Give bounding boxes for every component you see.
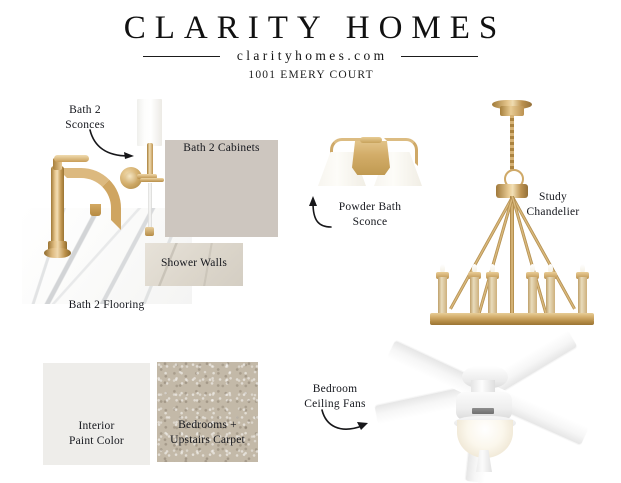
arrow-to-ceiling-fans — [318, 408, 376, 440]
annotation-study-chandelier-line1: Study — [506, 190, 600, 205]
vanity-center-body — [352, 141, 390, 175]
chandelier-candle — [528, 277, 537, 313]
board-header: CLARITY HOMES clarityhomes.com 1001 EMER… — [0, 0, 621, 92]
faucet-base — [44, 248, 71, 258]
annotation-bedroom-ceiling-fans-line1: Bedroom — [289, 382, 381, 397]
website-row: clarityhomes.com — [0, 47, 621, 65]
chandelier-candle — [438, 277, 447, 313]
design-board: CLARITY HOMES clarityhomes.com 1001 EMER… — [0, 0, 621, 480]
ceiling-fan-image — [372, 322, 604, 470]
faucet-spout — [57, 168, 121, 230]
property-address: 1001 EMERY COURT — [0, 69, 621, 81]
arrow-to-bath-2-sconces — [84, 128, 144, 168]
vanity-sconce-image — [316, 128, 426, 194]
chandelier-candle — [546, 277, 555, 313]
swatch-label-carpet-line1: Bedrooms + — [152, 418, 263, 433]
chandelier-spoke — [449, 196, 514, 309]
swatch-label-interior-paint-line1: Interior — [43, 419, 150, 434]
fan-switch-plate — [472, 408, 494, 414]
swatch-label-bath-2-flooring: Bath 2 Flooring — [24, 298, 189, 313]
divider-right — [401, 56, 478, 57]
swatch-label-shower-walls: Shower Walls — [145, 256, 243, 271]
arrow-to-powder-bath-sconce — [307, 193, 339, 231]
swatch-label-carpet-line2: Upstairs Carpet — [152, 433, 263, 448]
annotation-study-chandelier-line2: Chandelier — [506, 205, 600, 220]
sconce-crossbar — [140, 178, 164, 182]
annotation-bath-2-sconces-line1: Bath 2 — [42, 103, 128, 118]
annotation-study-chandelier: Study Chandelier — [506, 190, 600, 219]
chandelier-chain — [510, 115, 514, 171]
divider-left — [143, 56, 220, 57]
chandelier-candle — [488, 277, 497, 313]
sconce-backplate-center — [125, 172, 137, 184]
sconce-glass-rod — [148, 183, 152, 230]
swatch-interior-paint-color — [43, 363, 150, 465]
faucet-body — [51, 166, 64, 248]
faucet-spout-tip — [90, 204, 101, 216]
chandelier-candle — [578, 277, 587, 313]
swatch-label-interior-paint-line2: Paint Color — [43, 434, 150, 449]
annotation-bedroom-ceiling-fans: Bedroom Ceiling Fans — [289, 382, 381, 411]
website-url: clarityhomes.com — [233, 48, 387, 64]
page-title: CLARITY HOMES — [0, 8, 621, 48]
chandelier-candle — [470, 277, 479, 313]
swatch-label-bedrooms-upstairs-carpet: Bedrooms + Upstairs Carpet — [152, 418, 263, 448]
sconce-finial — [145, 227, 154, 236]
swatch-label-bath-2-cabinets: Bath 2 Cabinets — [165, 141, 278, 156]
vanity-top-cap — [360, 137, 382, 143]
swatch-label-interior-paint-color: Interior Paint Color — [43, 419, 150, 449]
